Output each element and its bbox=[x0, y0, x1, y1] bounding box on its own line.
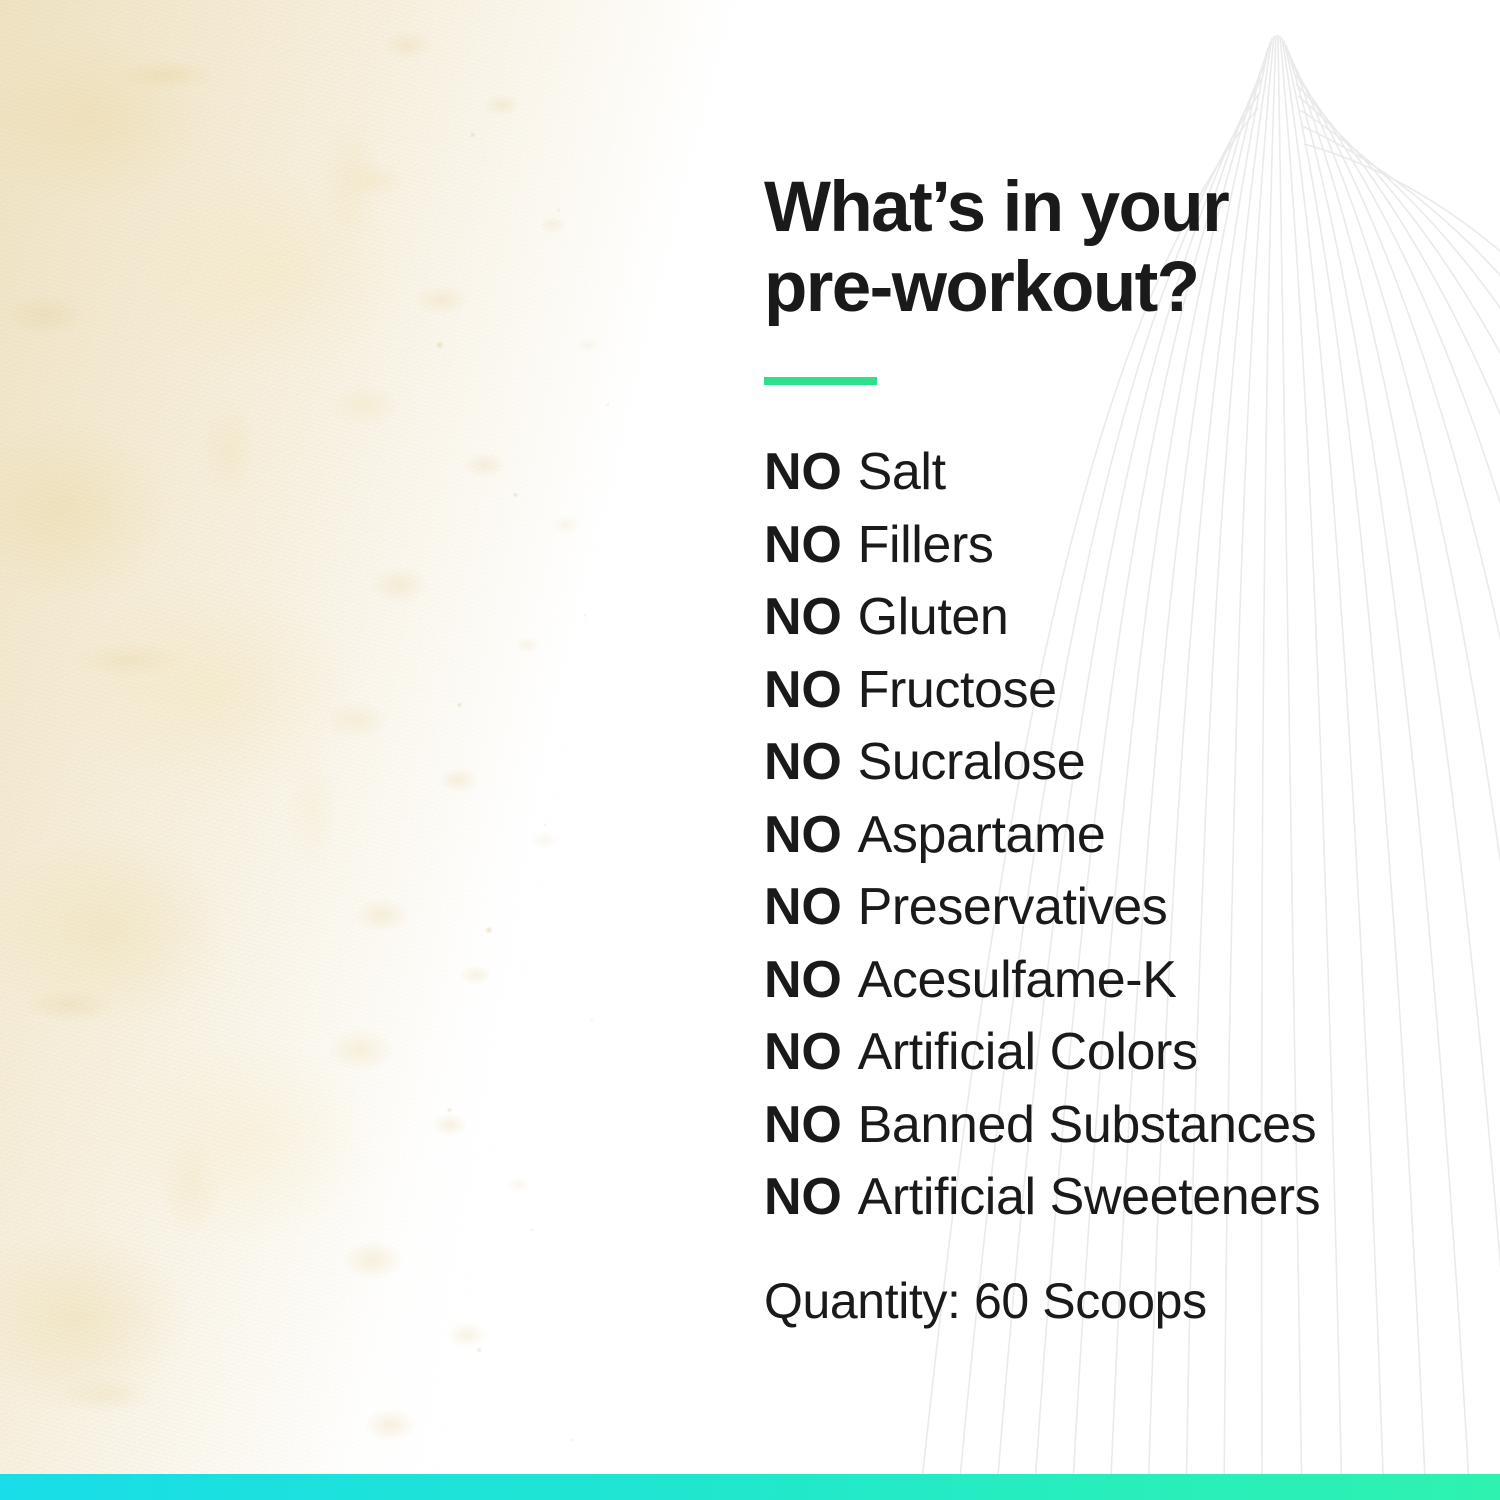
claim-label: Gluten bbox=[858, 588, 1009, 646]
claim-label: Banned Substances bbox=[858, 1096, 1317, 1154]
list-item: NOSalt bbox=[764, 436, 1444, 509]
list-item: NOAspartame bbox=[764, 799, 1444, 872]
claim-label: Artificial Colors bbox=[858, 1023, 1198, 1081]
claim-prefix: NO bbox=[764, 1096, 842, 1154]
list-item: NOFillers bbox=[764, 509, 1444, 582]
list-item: NOAcesulfame-K bbox=[764, 944, 1444, 1017]
claim-label: Fillers bbox=[858, 516, 994, 574]
list-item: NOFructose bbox=[764, 654, 1444, 727]
claim-label: Sucralose bbox=[858, 733, 1086, 791]
page-title: What’s in your pre-workout? bbox=[764, 168, 1324, 328]
claim-label: Acesulfame-K bbox=[858, 951, 1177, 1009]
bottom-gradient-bar bbox=[0, 1474, 1500, 1500]
claim-prefix: NO bbox=[764, 951, 842, 1009]
claim-prefix: NO bbox=[764, 661, 842, 719]
content-column: What’s in your pre-workout? NOSalt NOFil… bbox=[764, 0, 1464, 1500]
claims-list: NOSalt NOFillers NOGluten NOFructose NOS… bbox=[764, 436, 1444, 1234]
accent-rule-divider bbox=[764, 377, 877, 385]
list-item: NOArtificial Sweeteners bbox=[764, 1161, 1444, 1234]
claim-prefix: NO bbox=[764, 733, 842, 791]
claim-prefix: NO bbox=[764, 806, 842, 864]
product-infographic: What’s in your pre-workout? NOSalt NOFil… bbox=[0, 0, 1500, 1500]
claim-prefix: NO bbox=[764, 588, 842, 646]
claim-label: Salt bbox=[858, 443, 946, 501]
claim-prefix: NO bbox=[764, 443, 842, 501]
claim-label: Artificial Sweeteners bbox=[858, 1168, 1321, 1226]
headline-line-1: What’s in your bbox=[764, 168, 1228, 247]
list-item: NOSucralose bbox=[764, 726, 1444, 799]
list-item: NOGluten bbox=[764, 581, 1444, 654]
quantity-text: Quantity: 60 Scoops bbox=[764, 1272, 1207, 1330]
list-item: NOBanned Substances bbox=[764, 1089, 1444, 1162]
claim-prefix: NO bbox=[764, 878, 842, 936]
list-item: NOPreservatives bbox=[764, 871, 1444, 944]
claim-label: Preservatives bbox=[858, 878, 1168, 936]
powder-photo bbox=[0, 0, 760, 1500]
headline-line-2: pre-workout? bbox=[764, 248, 1198, 327]
claim-prefix: NO bbox=[764, 1168, 842, 1226]
claim-label: Fructose bbox=[858, 661, 1057, 719]
claim-prefix: NO bbox=[764, 516, 842, 574]
powder-stray-specks bbox=[400, 0, 730, 1500]
claim-prefix: NO bbox=[764, 1023, 842, 1081]
claim-label: Aspartame bbox=[858, 806, 1106, 864]
list-item: NOArtificial Colors bbox=[764, 1016, 1444, 1089]
